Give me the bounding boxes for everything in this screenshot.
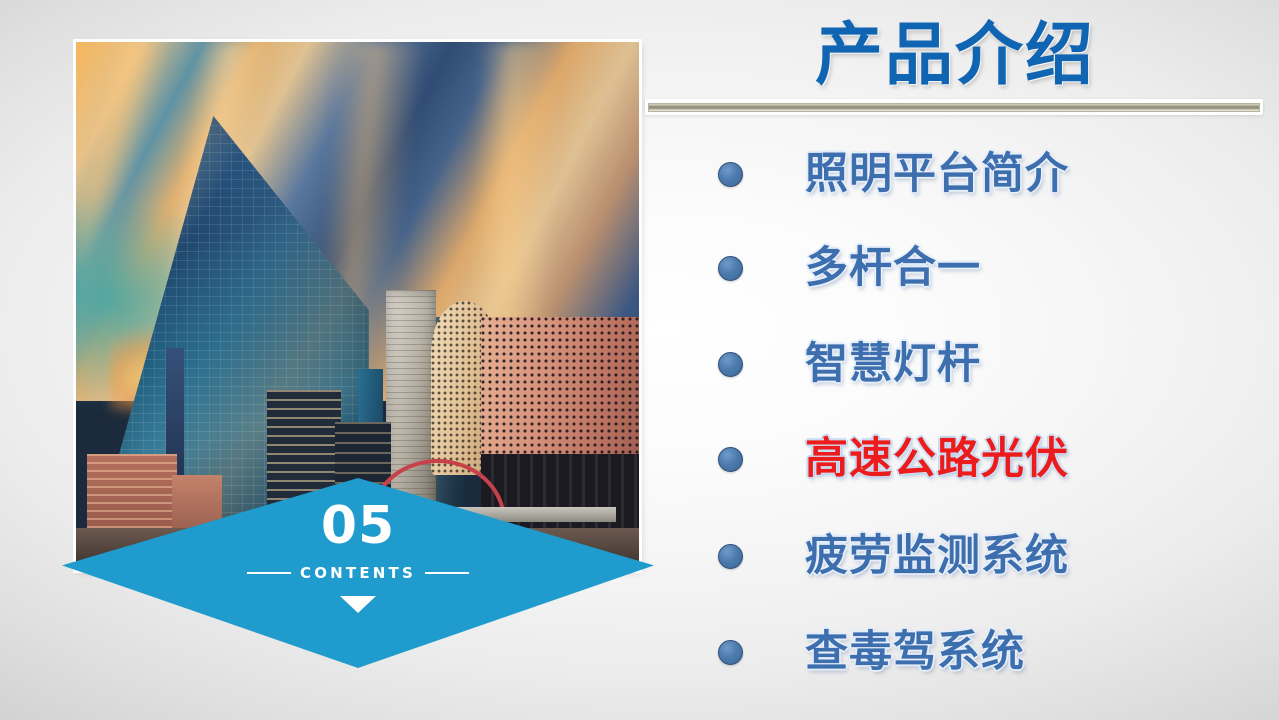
bullet-circle-icon: [718, 352, 743, 377]
list-item-2[interactable]: 智慧灯杆: [645, 322, 1265, 406]
list-item-label: 查毒驾系统: [805, 631, 1025, 674]
list-item-label: 智慧灯杆: [805, 343, 981, 386]
list-item-label: 疲劳监测系统: [805, 535, 1069, 578]
list-item-0[interactable]: 照明平台简介: [645, 132, 1265, 216]
agenda-list: 照明平台简介 多杆合一 智慧灯杆 高速公路光伏 疲劳监测系统 查毒驾系统: [645, 132, 1265, 712]
list-item-1[interactable]: 多杆合一: [645, 226, 1265, 310]
list-item-4[interactable]: 疲劳监测系统: [645, 514, 1265, 598]
title-divider: [645, 99, 1263, 115]
list-item-label: 照明平台简介: [805, 153, 1069, 196]
list-item-5[interactable]: 查毒驾系统: [645, 610, 1265, 694]
bullet-circle-icon: [718, 256, 743, 281]
list-item-label: 多杆合一: [805, 247, 981, 290]
bullet-circle-icon: [718, 544, 743, 569]
bullet-circle-icon: [718, 447, 743, 472]
list-item-label-highlighted: 高速公路光伏: [805, 438, 1069, 481]
presentation-slide: 05 CONTENTS 产品介绍 照明平台简介 多杆合一 智慧灯杆 高速公路光伏: [0, 0, 1279, 720]
bullet-circle-icon: [718, 162, 743, 187]
bullet-circle-icon: [718, 640, 743, 665]
title-divider-bar: [648, 103, 1260, 112]
list-item-3[interactable]: 高速公路光伏: [645, 417, 1265, 501]
page-title: 产品介绍: [645, 2, 1265, 94]
